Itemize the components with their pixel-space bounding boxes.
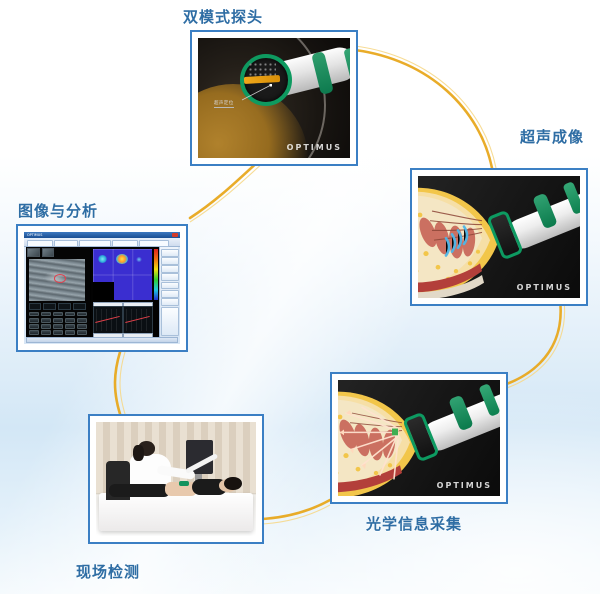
heatmap-colorbar <box>154 249 158 300</box>
software-statusbar <box>26 337 178 343</box>
control-button[interactable] <box>53 330 64 335</box>
thumbnail-item[interactable] <box>42 248 54 257</box>
watermark-optimus-ultrasound: OPTIMUS <box>517 283 572 292</box>
control-button[interactable] <box>65 312 76 317</box>
readout-cell <box>58 303 71 310</box>
readout-cell <box>73 303 86 310</box>
sidebar-item-5[interactable] <box>161 290 179 298</box>
control-button[interactable] <box>41 312 52 317</box>
clinic-room-background <box>96 422 256 536</box>
software-window: OPTIMUS <box>24 232 180 344</box>
software-workspace <box>26 247 178 338</box>
control-button[interactable] <box>29 312 40 317</box>
sidebar-item-6[interactable] <box>161 298 179 306</box>
optical-heatmap[interactable] <box>93 249 152 300</box>
control-button[interactable] <box>53 312 64 317</box>
label-ultrasound-imaging: 超声成像 <box>520 126 584 147</box>
control-button[interactable] <box>53 318 64 323</box>
probe-annotation-text: 超声定位 <box>214 100 234 108</box>
control-button[interactable] <box>77 318 88 323</box>
control-button[interactable] <box>77 324 88 329</box>
panel-onsite-detection[interactable] <box>88 414 264 544</box>
toolbar-item-4[interactable] <box>139 240 169 247</box>
software-toolbar[interactable] <box>24 238 180 247</box>
label-imaging-and-analysis: 图像与分析 <box>18 200 98 221</box>
sidebar-item-2[interactable] <box>161 265 179 273</box>
control-button[interactable] <box>65 318 76 323</box>
sidebar-item-4[interactable] <box>161 282 179 290</box>
patient-legs <box>109 484 170 498</box>
panel-optical-acquisition[interactable]: OPTIMUS <box>330 372 508 504</box>
sidebar-item-0[interactable] <box>161 249 179 257</box>
toolbar-item-1[interactable] <box>54 240 78 247</box>
optical-map-pane[interactable] <box>91 247 158 338</box>
ultrasound-illustration: OPTIMUS <box>418 176 580 298</box>
clinic-photo <box>96 422 256 536</box>
control-button[interactable] <box>41 330 52 335</box>
close-icon[interactable] <box>172 233 178 237</box>
control-button[interactable] <box>77 312 88 317</box>
handheld-probe <box>179 481 189 486</box>
connector-onsite-to-analysis <box>115 352 122 420</box>
control-button[interactable] <box>29 330 40 335</box>
control-button[interactable] <box>77 330 88 335</box>
thumbnail-strip[interactable] <box>27 248 54 257</box>
label-dual-mode-probe: 双模式探头 <box>183 6 263 27</box>
panel-dual-mode-probe[interactable]: 超声定位 OPTIMUS <box>190 30 358 166</box>
control-button[interactable] <box>65 324 76 329</box>
probe-callout-line <box>238 84 272 102</box>
waveform-chart-left[interactable] <box>93 306 123 333</box>
toolbar-item-2[interactable] <box>79 240 111 247</box>
measurement-readouts <box>29 303 86 310</box>
label-optical-acquisition: 光学信息采集 <box>366 513 462 534</box>
analysis-software-screenshot: OPTIMUS <box>24 232 180 344</box>
control-button[interactable] <box>53 324 64 329</box>
control-button-grid[interactable] <box>29 312 88 336</box>
sidebar-info-panel <box>161 307 179 336</box>
b-mode-ultrasound-image[interactable] <box>29 259 85 301</box>
connector-probe-to-ultrasound <box>355 50 492 168</box>
toolbar-item-0[interactable] <box>27 240 53 247</box>
toolbar-item-3[interactable] <box>112 240 138 247</box>
readout-cell <box>29 303 42 310</box>
heatmap-masked-area <box>93 282 114 299</box>
ultrasound-view-pane[interactable] <box>26 247 90 338</box>
watermark-optimus-probe: OPTIMUS <box>287 143 342 152</box>
clinician-hair <box>133 445 144 461</box>
optical-illustration: OPTIMUS <box>338 380 500 496</box>
panel-imaging-and-analysis[interactable]: OPTIMUS <box>16 224 188 352</box>
control-button[interactable] <box>29 318 40 323</box>
sidebar-item-1[interactable] <box>161 257 179 265</box>
patient-hair <box>224 477 242 491</box>
heatmap-hotspot-2 <box>116 254 128 264</box>
control-button[interactable] <box>65 330 76 335</box>
waveform-chart-right[interactable] <box>123 306 153 333</box>
heatmap-hotspot-1 <box>98 255 107 263</box>
panel-ultrasound-imaging[interactable]: OPTIMUS <box>410 168 588 306</box>
label-onsite-detection: 现场检测 <box>76 561 140 582</box>
sidebar-item-3[interactable] <box>161 273 179 281</box>
connector-analysis-to-probe <box>190 158 262 218</box>
watermark-optimus-optical: OPTIMUS <box>437 481 492 490</box>
readout-cell <box>43 303 56 310</box>
software-sidebar[interactable] <box>159 247 178 338</box>
control-button[interactable] <box>41 318 52 323</box>
control-button[interactable] <box>41 324 52 329</box>
thumbnail-item[interactable] <box>27 248 39 257</box>
region-of-interest-marker[interactable] <box>54 274 66 283</box>
control-button[interactable] <box>29 324 40 329</box>
probe-photo: 超声定位 OPTIMUS <box>198 38 350 158</box>
